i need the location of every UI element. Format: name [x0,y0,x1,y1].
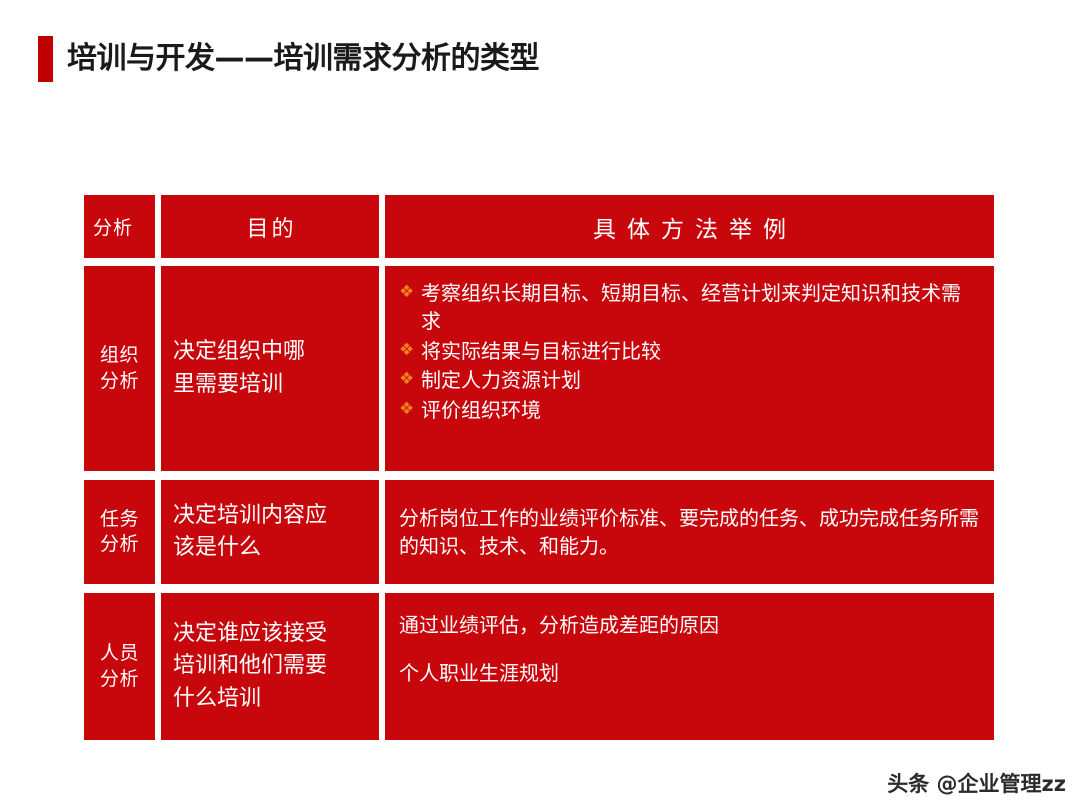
training-needs-analysis-table: 分析 目的 具体方法举例 组织 分析 决定组织中哪 里需要培训 ❖ 考察组织长 [84,195,994,740]
list-item: ❖ 考察组织长期目标、短期目标、经营计划来判定知识和技术需求 [399,279,980,336]
table-header-row: 分析 目的 具体方法举例 [84,195,994,258]
purpose-line-3: 什么培训 [173,683,327,715]
methods-bullet-list: ❖ 考察组织长期目标、短期目标、经营计划来判定知识和技术需求 ❖ 将实际结果与目… [399,279,980,424]
purpose-line-1: 决定培训内容应 [173,500,327,532]
row-category-personnel: 人员 分析 [84,593,155,740]
row-methods-organizational: ❖ 考察组织长期目标、短期目标、经营计划来判定知识和技术需求 ❖ 将实际结果与目… [385,266,994,471]
category-line-1: 人员 [100,641,139,666]
row-purpose-task: 决定培训内容应 该是什么 [161,480,379,584]
list-item: ❖ 评价组织环境 [399,396,980,424]
slide-canvas: 培训与开发——培训需求分析的类型 分析 目的 具体方法举例 组织 分析 决定组织… [0,0,1080,810]
table-row: 任务 分析 决定培训内容应 该是什么 分析岗位工作的业绩评价标准、要完成的任务、… [84,480,994,584]
diamond-bullet-icon: ❖ [399,368,415,390]
diamond-bullet-icon: ❖ [399,398,415,420]
table-row: 人员 分析 决定谁应该接受 培训和他们需要 什么培训 通过业绩评估，分析造成差距… [84,593,994,740]
list-item: ❖ 将实际结果与目标进行比较 [399,337,980,365]
slide-title-block: 培训与开发——培训需求分析的类型 [38,36,539,82]
column-header-analysis: 分析 [84,195,155,258]
category-line-2: 分析 [100,369,139,394]
row-methods-personnel: 通过业绩评估，分析造成差距的原因 个人职业生涯规划 [385,593,994,740]
row-methods-task: 分析岗位工作的业绩评价标准、要完成的任务、成功完成任务所需的知识、技术、和能力。 [385,480,994,584]
methods-paragraph: 个人职业生涯规划 [399,659,980,687]
list-item: ❖ 制定人力资源计划 [399,366,980,394]
category-line-1: 任务 [100,507,139,532]
category-line-2: 分析 [100,667,139,692]
purpose-line-2: 培训和他们需要 [173,650,327,682]
purpose-line-2: 该是什么 [173,532,327,564]
bullet-text: 评价组织环境 [421,398,541,422]
methods-paragraph: 分析岗位工作的业绩评价标准、要完成的任务、成功完成任务所需的知识、技术、和能力。 [399,504,980,561]
category-line-1: 组织 [100,343,139,368]
methods-paragraph: 通过业绩评估，分析造成差距的原因 [399,611,980,639]
purpose-line-1: 决定谁应该接受 [173,618,327,650]
category-line-2: 分析 [100,532,139,557]
page-title: 培训与开发——培训需求分析的类型 [67,36,539,82]
purpose-line-2: 里需要培训 [173,369,305,401]
diamond-bullet-icon: ❖ [399,281,415,303]
bullet-text: 制定人力资源计划 [421,368,581,392]
watermark-label: 头条 @企业管理zz [887,768,1066,798]
row-purpose-organizational: 决定组织中哪 里需要培训 [161,266,379,471]
row-category-organizational: 组织 分析 [84,266,155,471]
column-header-purpose: 目的 [161,195,379,258]
table-row: 组织 分析 决定组织中哪 里需要培训 ❖ 考察组织长期目标、短期目标、经营计划来… [84,266,994,471]
row-category-task: 任务 分析 [84,480,155,584]
purpose-line-1: 决定组织中哪 [173,336,305,368]
bullet-text: 考察组织长期目标、短期目标、经营计划来判定知识和技术需求 [421,281,961,333]
title-accent-bar [38,36,53,82]
diamond-bullet-icon: ❖ [399,339,415,361]
column-header-methods: 具体方法举例 [385,195,994,258]
row-purpose-personnel: 决定谁应该接受 培训和他们需要 什么培训 [161,593,379,740]
bullet-text: 将实际结果与目标进行比较 [421,339,661,363]
